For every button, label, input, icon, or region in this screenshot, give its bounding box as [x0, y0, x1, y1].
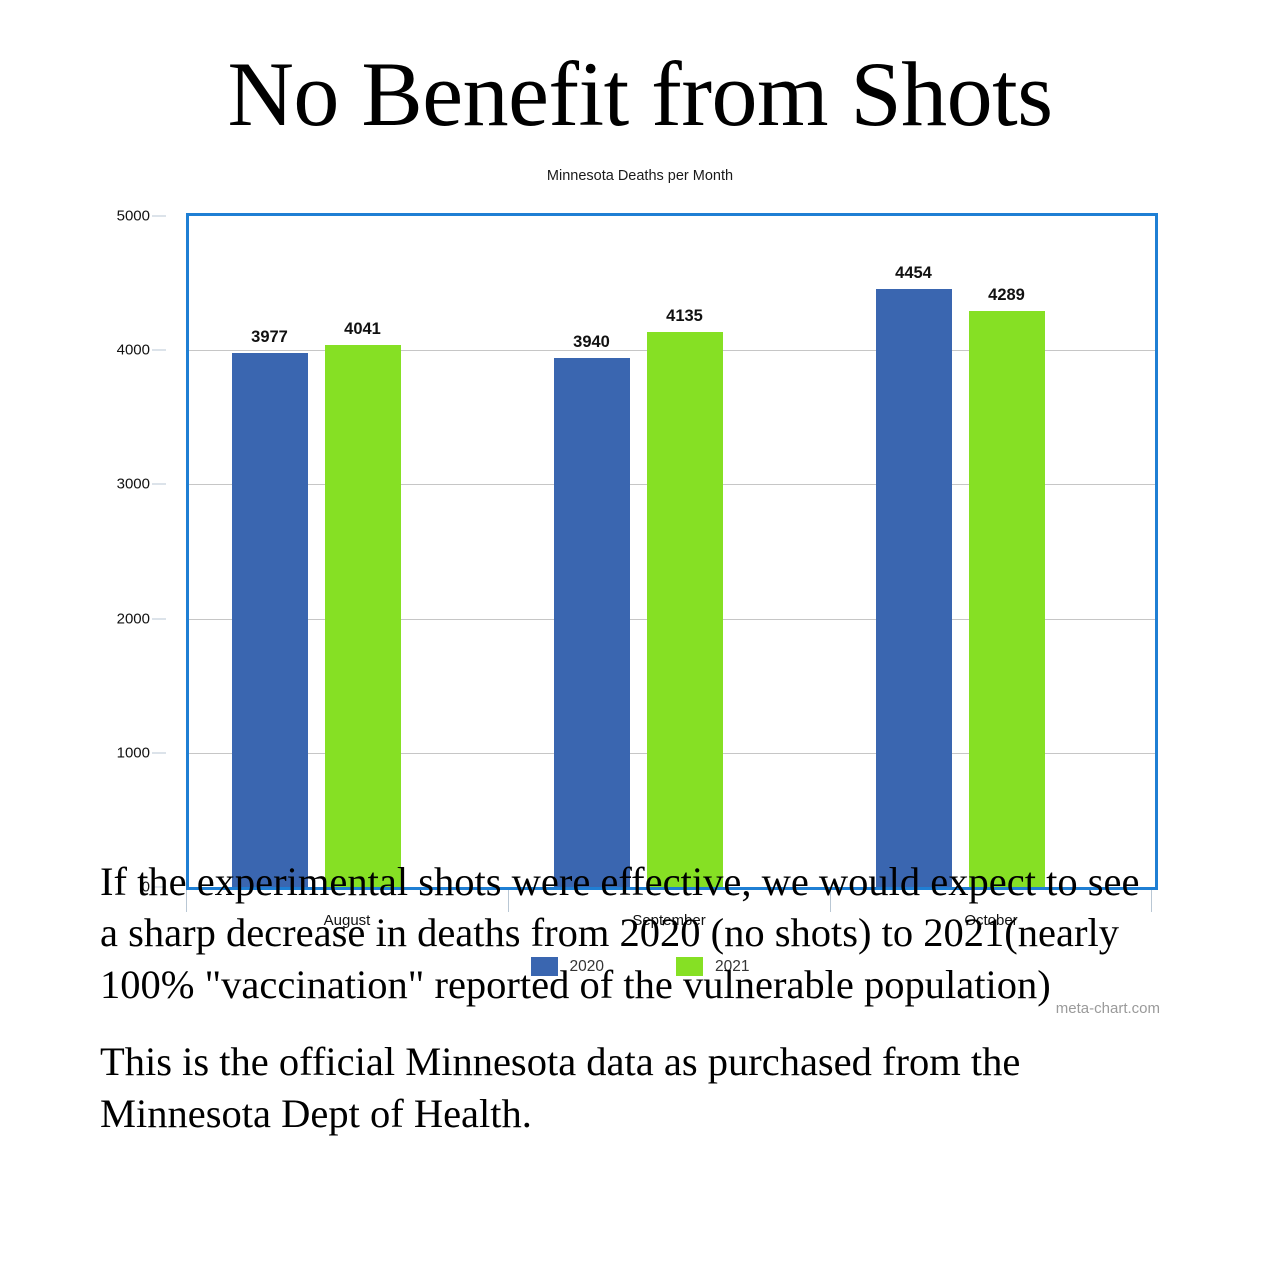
chart-title: Minnesota Deaths per Month — [0, 168, 1280, 184]
bar-august-2021[interactable] — [325, 345, 401, 887]
y-axis-tick-mark — [152, 216, 166, 217]
y-axis-tick-mark — [152, 350, 166, 351]
bar-value-label: 4289 — [988, 286, 1025, 305]
y-axis-tick-mark — [152, 618, 166, 619]
y-axis: 010002000300040005000 — [0, 160, 186, 900]
plot-inner: 397740413940413544544289 — [189, 216, 1155, 887]
bar-value-label: 3977 — [251, 328, 288, 347]
y-axis-tick-mark — [152, 484, 166, 485]
bar-value-label: 4454 — [895, 264, 932, 283]
page-title: No Benefit from Shots — [0, 48, 1280, 140]
plot-area: 397740413940413544544289 — [186, 213, 1158, 890]
y-axis-tick-label: 5000 — [117, 208, 150, 225]
bar-september-2021[interactable] — [647, 332, 723, 887]
y-axis-tick-label: 3000 — [117, 476, 150, 493]
y-axis-tick-label: 2000 — [117, 610, 150, 627]
body-text: If the experimental shots were effective… — [100, 856, 1160, 1139]
bar-september-2020[interactable] — [554, 358, 630, 887]
bar-chart: Minnesota Deaths per Month 0100020003000… — [0, 160, 1280, 860]
y-axis-tick-label: 4000 — [117, 342, 150, 359]
bar-october-2020[interactable] — [876, 289, 952, 887]
bar-august-2020[interactable] — [232, 353, 308, 887]
bar-october-2021[interactable] — [969, 311, 1045, 887]
bar-value-label: 3940 — [573, 333, 610, 352]
y-axis-tick-label: 1000 — [117, 744, 150, 761]
paragraph-1: If the experimental shots were effective… — [100, 856, 1160, 1010]
paragraph-2: This is the official Minnesota data as p… — [100, 1036, 1160, 1139]
bar-value-label: 4041 — [344, 320, 381, 339]
y-axis-tick-mark — [152, 752, 166, 753]
bar-value-label: 4135 — [666, 307, 703, 326]
